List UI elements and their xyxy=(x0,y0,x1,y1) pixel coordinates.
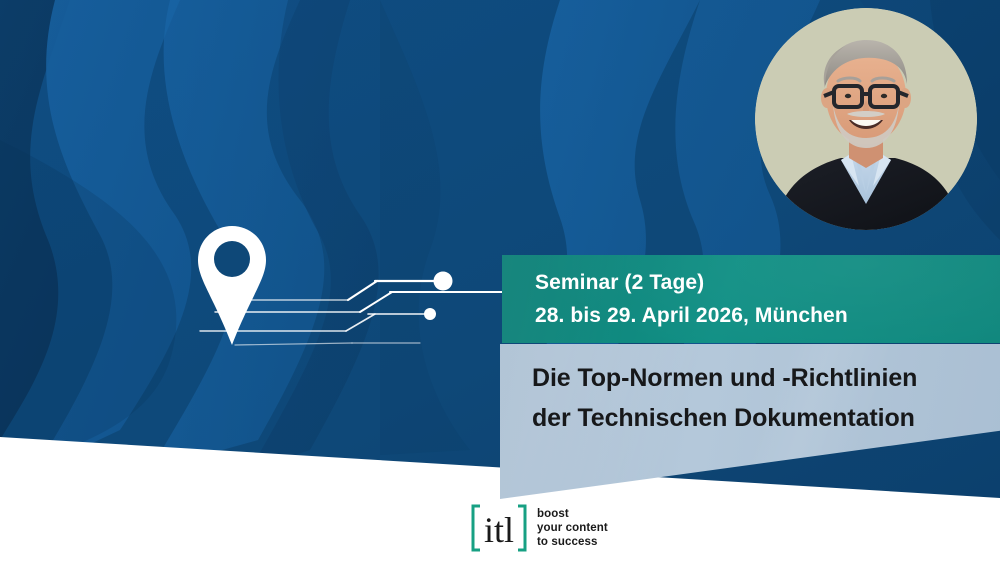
svg-text:itl: itl xyxy=(484,510,514,550)
promo-banner-root: Seminar (2 Tage) 28. bis 29. April 2026,… xyxy=(0,0,1000,563)
tagline-line-1: boost xyxy=(537,507,608,521)
itl-wordmark-icon: itl xyxy=(470,503,528,553)
event-date-location-label: 28. bis 29. April 2026, München xyxy=(535,299,848,332)
tagline-line-3: to success xyxy=(537,535,608,549)
itl-tagline: boost your content to success xyxy=(537,507,608,549)
event-info-text: Seminar (2 Tage) 28. bis 29. April 2026,… xyxy=(535,266,848,332)
title-line-2: der Technischen Dokumentation xyxy=(532,398,917,438)
event-type-label: Seminar (2 Tage) xyxy=(535,266,848,299)
page-title: Die Top-Normen und -Richtlinien der Tech… xyxy=(532,358,917,438)
speaker-portrait-photo xyxy=(755,8,977,230)
itl-logo[interactable]: itl boost your content to success xyxy=(470,503,608,553)
event-info-banner: Seminar (2 Tage) 28. bis 29. April 2026,… xyxy=(502,255,1000,343)
tagline-line-2: your content xyxy=(537,521,608,535)
portrait-illustration xyxy=(755,8,977,230)
title-line-1: Die Top-Normen und -Richtlinien xyxy=(532,358,917,398)
